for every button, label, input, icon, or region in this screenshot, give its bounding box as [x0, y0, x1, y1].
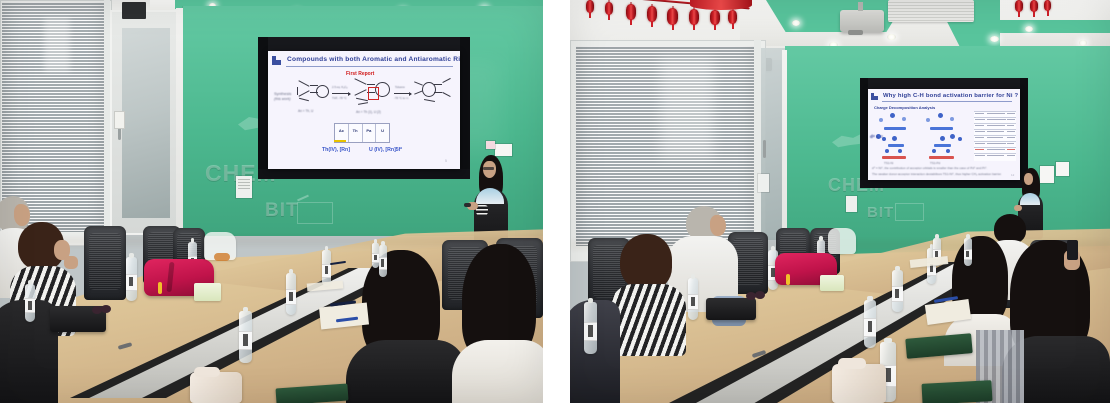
- wall-panel-small: [758, 174, 769, 192]
- lantern: [689, 9, 699, 25]
- slide-title: Why high C-H bond activation barrier for…: [883, 93, 1018, 99]
- water-bottle[interactable]: [379, 245, 387, 277]
- thermos-lid[interactable]: [194, 367, 220, 377]
- molecule-sandwich-3: [414, 79, 452, 109]
- water-bottle[interactable]: [964, 238, 972, 266]
- fruit-in-bag: [214, 253, 230, 261]
- lantern: [1030, 0, 1038, 12]
- cda-data-table: [974, 111, 1016, 161]
- scheme-caption-mid: An = Th (1), U (2): [356, 110, 381, 114]
- backpack-zip-pull[interactable]: [158, 282, 162, 294]
- slide-logo-icon: [871, 93, 878, 100]
- reaction-arrow-2: [394, 93, 411, 94]
- door-handle[interactable]: [763, 140, 766, 158]
- lantern: [667, 8, 678, 25]
- blind-glare: [660, 58, 714, 158]
- attendee-hand: [64, 256, 78, 269]
- thermos-lid[interactable]: [838, 358, 866, 369]
- slide-left: Compounds with both Aromatic and Antiaro…: [268, 51, 460, 169]
- office-chair[interactable]: [84, 226, 126, 300]
- wall-control-panel-grille: [238, 179, 250, 189]
- highlight-box: [368, 87, 379, 100]
- projection-screen-left[interactable]: Compounds with both Aromatic and Antiaro…: [268, 51, 460, 169]
- ceiling-green-edge: [984, 20, 1110, 33]
- lantern-cluster: [690, 0, 752, 10]
- photo-pair-canvas: CHEM BIT Compounds with both Aromatic an…: [0, 0, 1110, 403]
- cda-label-ts1-pd: TS1-Pd: [930, 161, 940, 165]
- water-bottle[interactable]: [239, 311, 252, 363]
- water-bottle[interactable]: [126, 257, 137, 301]
- lantern: [626, 4, 636, 20]
- periodic-cell: Th: [349, 124, 363, 142]
- reagent-1: 2.5 eq. K₈C₈: [332, 85, 348, 89]
- water-bottle[interactable]: [584, 302, 597, 354]
- photo-left[interactable]: CHEM BIT Compounds with both Aromatic an…: [0, 0, 543, 403]
- sunglasses[interactable]: [101, 305, 111, 313]
- plastic-bag[interactable]: [828, 228, 856, 254]
- backpack-zip-pull[interactable]: [786, 274, 790, 285]
- wall-notice-b: [1056, 162, 1069, 176]
- lantern: [710, 10, 720, 25]
- ceiling-projector: [840, 10, 884, 32]
- slide-title-rule: [882, 101, 1012, 102]
- screen-left-band: [860, 78, 868, 188]
- laptop-bag[interactable]: [706, 298, 756, 320]
- ceiling-downlight: [1025, 26, 1033, 32]
- water-bottle[interactable]: [864, 300, 876, 348]
- wall-control-panel[interactable]: [846, 196, 857, 212]
- attendee-torso: [346, 340, 466, 403]
- slide-subtitle: First Report: [346, 71, 374, 77]
- molecule-sandwich-1: [296, 81, 330, 107]
- lantern: [728, 10, 737, 24]
- slide-note-line-2: The weaker donor-acceptor interaction de…: [872, 172, 1002, 176]
- thermos-flask[interactable]: [832, 364, 886, 403]
- water-bottle[interactable]: [688, 278, 698, 320]
- lantern: [1015, 0, 1023, 12]
- presenter-hand: [1014, 205, 1022, 211]
- attendee-torso: [452, 340, 543, 403]
- tissue-box[interactable]: [820, 275, 844, 291]
- slide-side-label-1: Synthesis: [274, 91, 291, 96]
- air-conditioner: [888, 0, 974, 22]
- wall-logo-bit: BIT: [867, 204, 894, 221]
- projector-mount: [858, 2, 863, 11]
- attendee-curly-hair: [610, 234, 694, 374]
- water-bottle[interactable]: [892, 270, 903, 312]
- slide-footer-left: Th(IV), [Rn]: [322, 147, 350, 153]
- attendee-face: [710, 215, 726, 236]
- reagent-4: -78 °C to r.t.: [394, 96, 409, 100]
- attendee-foreground-right: [452, 244, 543, 403]
- reaction-arrow-1: [332, 93, 350, 94]
- slide-note-line-1: d⁸ = Ni⁰, the contribution of acceptor o…: [872, 166, 987, 170]
- side-wall: [176, 8, 183, 236]
- wall-logo-box: [895, 203, 924, 221]
- glass-door-panel: [122, 28, 170, 218]
- scheme-caption-left: An = Th, U: [298, 109, 313, 113]
- lantern: [647, 6, 657, 22]
- screen-right-band: [460, 37, 470, 179]
- green-notebook[interactable]: [921, 380, 992, 403]
- wall-logo-bit: BIT: [265, 200, 299, 222]
- screen-bottom-bar: [258, 169, 470, 179]
- phone-in-hand[interactable]: [1067, 240, 1078, 260]
- slide-right: Why high C-H bond activation barrier for…: [868, 89, 1020, 180]
- ceiling-downlight: [990, 36, 999, 42]
- water-bottle[interactable]: [286, 273, 296, 315]
- ceiling-sign: [122, 2, 146, 19]
- ceiling-green-band: [766, 0, 906, 32]
- wall-switch-plate[interactable]: [115, 112, 124, 128]
- reagent-2: THF, -78 °C: [332, 96, 347, 100]
- presenter-glasses-icon: [483, 167, 494, 170]
- attendee-foreground-left: [346, 250, 466, 403]
- slide-footer-right: U (IV), [Rn]5f²: [369, 147, 402, 153]
- attendee-hair: [620, 234, 672, 290]
- presenter-clicker[interactable]: [464, 203, 471, 207]
- slide-subtitle: Charge Decomposition Analysis: [874, 105, 935, 110]
- periodic-cell: U: [376, 124, 389, 142]
- slide-number: 5: [445, 159, 447, 163]
- screen-left-band: [258, 37, 268, 179]
- cda-label-ts1-ni: TS1-Ni: [884, 161, 893, 165]
- ceiling-downlight: [792, 20, 800, 26]
- slide-number: 12: [1011, 173, 1014, 177]
- slide-title: Compounds with both Aromatic and Antiaro…: [287, 56, 460, 63]
- screen-bottom-bar: [860, 180, 1028, 188]
- lantern: [586, 0, 594, 13]
- projection-screen-right[interactable]: Why high C-H bond activation barrier for…: [868, 89, 1020, 180]
- slide-side-label-2: (this work): [274, 97, 291, 101]
- window-mullion: [754, 40, 761, 262]
- reagent-3: Toluene: [395, 85, 405, 89]
- periodic-strip-underline: [334, 140, 346, 142]
- lantern: [605, 2, 613, 15]
- wall-logo-box: [297, 202, 333, 224]
- blind-glare: [44, 18, 70, 72]
- slide-title-rule: [286, 66, 453, 67]
- periodic-cell: Pa: [363, 124, 377, 142]
- lantern: [1044, 0, 1051, 11]
- ceiling-downlight: [887, 34, 896, 40]
- cda-label-left: d⁸ L =: [870, 134, 883, 139]
- water-bottle[interactable]: [372, 243, 379, 268]
- screen-case: [860, 78, 1028, 89]
- water-bottle[interactable]: [25, 284, 35, 322]
- cda-diagram-right: [920, 113, 974, 159]
- photo-right[interactable]: CHEM BIT Why high C-H bond activation ba…: [570, 0, 1110, 403]
- slide-logo-icon: [272, 56, 281, 65]
- sunglasses[interactable]: [755, 291, 765, 299]
- tissue-box[interactable]: [194, 283, 221, 301]
- presenter-face: [483, 161, 496, 178]
- presenter-face: [1024, 173, 1033, 185]
- screen-case: [258, 37, 470, 51]
- attendee-torso: [610, 284, 686, 356]
